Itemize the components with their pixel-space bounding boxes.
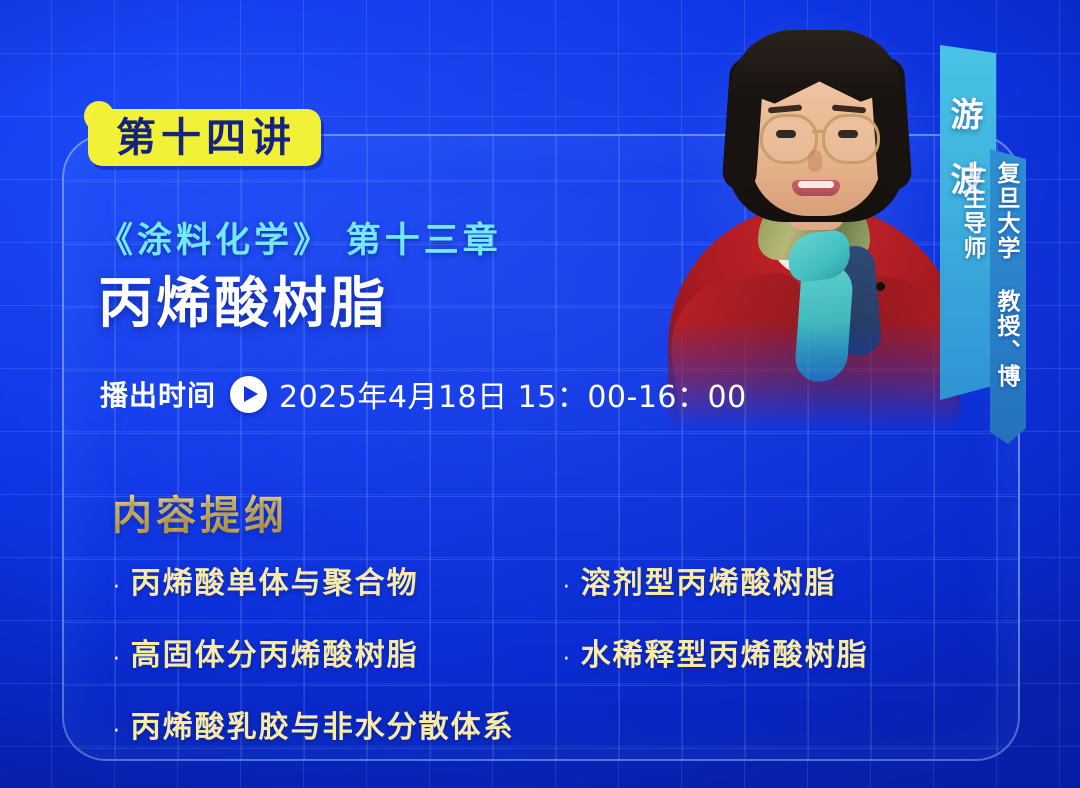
portrait-teeth [798,181,834,188]
list-item: · 溶剂型丙烯酸树脂 [562,558,912,602]
headline-block: 《涂料化学》 第十三章 丙烯酸树脂 [98,222,502,332]
bullet-icon: · [112,643,121,669]
outline-item-label: 水稀释型丙烯酸树脂 [581,630,869,674]
poster-canvas: 游波 复旦大学 教授、博士生导师 第十四讲 《涂料化学》 第十三章 丙烯酸树脂 … [0,0,1080,788]
speaker-ribbon: 游波 复旦大学 教授、博士生导师 [940,45,1018,397]
speaker-portrait [662,10,962,430]
page-title: 丙烯酸树脂 [98,275,502,333]
airtime-value: 2025年4月18日 15：00-16：00 [279,372,747,416]
airtime-label: 播出时间 [100,374,216,414]
outline-column-left: · 丙烯酸单体与聚合物 · 高固体分丙烯酸树脂 · 丙烯酸乳胶与非水分散体系 [112,558,542,774]
list-item: · 丙烯酸乳胶与非水分散体系 [112,702,542,746]
list-item: · 丙烯酸单体与聚合物 [112,558,542,602]
bullet-icon: · [112,571,121,597]
list-item: · 高固体分丙烯酸树脂 [112,630,542,674]
bullet-icon: · [112,715,121,741]
airtime-row: 播出时间 2025年4月18日 15：00-16：00 [100,372,747,416]
bullet-icon: · [562,643,571,669]
portrait-lapel-mic-icon [876,282,885,291]
bullet-icon: · [562,571,571,597]
list-item: · 水稀释型丙烯酸树脂 [562,630,912,674]
outline-item-label: 高固体分丙烯酸树脂 [131,630,419,674]
portrait-nose [808,150,822,172]
portrait-glasses-right-lens [822,114,880,164]
speaker-credentials: 复旦大学 教授、博士生导师 [994,161,1024,397]
outline-heading: 内容提纲 [112,483,288,541]
course-chapter-subtitle: 《涂料化学》 第十三章 [98,222,502,261]
lecture-badge-label: 第十四讲 [116,118,296,158]
outline-item-label: 溶剂型丙烯酸树脂 [581,558,837,602]
outline-item-label: 丙烯酸乳胶与非水分散体系 [131,702,515,746]
portrait-glasses-bridge [812,130,824,133]
lecture-badge-pill: 第十四讲 [88,109,321,166]
outline-item-label: 丙烯酸单体与聚合物 [131,558,419,602]
outline-column-right: · 溶剂型丙烯酸树脂 · 水稀释型丙烯酸树脂 [562,558,912,774]
outline-columns: · 丙烯酸单体与聚合物 · 高固体分丙烯酸树脂 · 丙烯酸乳胶与非水分散体系 ·… [112,558,912,774]
play-circle-icon[interactable] [230,376,267,413]
